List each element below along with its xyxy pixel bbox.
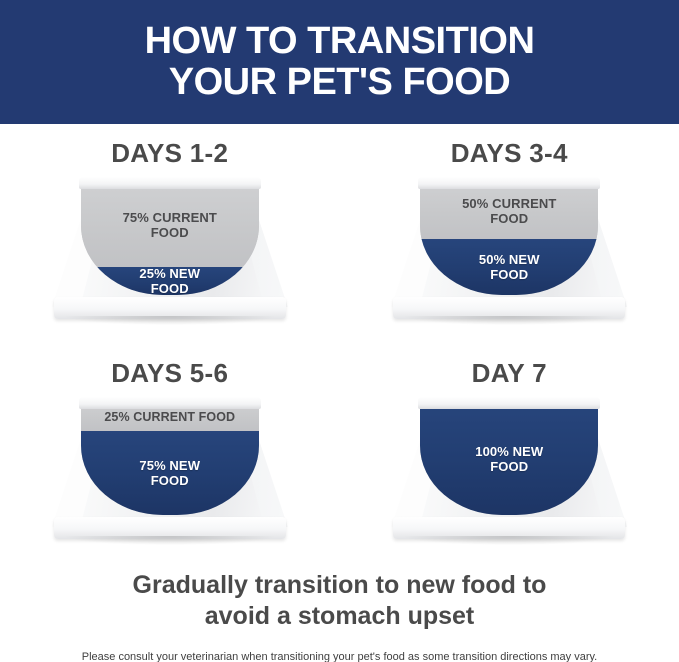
new-food-label: 50% NEW FOOD (473, 252, 546, 283)
transition-steps-grid: DAYS 1-2 75% CURRENT FOOD 25% NEW FOOD D… (0, 124, 679, 564)
food-bowl-graphic: 50% CURRENT FOOD 50% NEW FOOD (391, 175, 627, 325)
bowl-cavity: 25% CURRENT FOOD 75% NEW FOOD (81, 403, 259, 515)
current-food-label: 75% CURRENT FOOD (117, 210, 223, 241)
new-food-label: 25% NEW FOOD (133, 266, 206, 295)
step-card-days-5-6: DAYS 5-6 25% CURRENT FOOD 75% NEW FOOD (0, 344, 340, 564)
step-card-days-3-4: DAYS 3-4 50% CURRENT FOOD 50% NEW FOOD (340, 124, 679, 344)
new-food-layer: 50% NEW FOOD (420, 239, 598, 295)
current-food-layer: 50% CURRENT FOOD (420, 183, 598, 239)
tagline-line-1: Gradually transition to new food to (133, 570, 547, 601)
step-title: DAYS 5-6 (111, 358, 228, 389)
new-food-layer: 100% NEW FOOD (420, 403, 598, 515)
step-card-days-1-2: DAYS 1-2 75% CURRENT FOOD 25% NEW FOOD (0, 124, 340, 344)
current-food-label: 50% CURRENT FOOD (456, 196, 562, 227)
bowl-rim (418, 397, 600, 409)
new-food-label: 75% NEW FOOD (133, 458, 206, 489)
new-food-layer: 25% NEW FOOD (81, 267, 259, 295)
page-title-line-2: YOUR PET'S FOOD (169, 62, 510, 103)
footer: Gradually transition to new food to avoi… (0, 564, 679, 662)
bowl-cavity: 75% CURRENT FOOD 25% NEW FOOD (81, 183, 259, 295)
current-food-layer: 75% CURRENT FOOD (81, 183, 259, 267)
new-food-layer: 75% NEW FOOD (81, 431, 259, 515)
step-title: DAYS 3-4 (451, 138, 568, 169)
bowl-rim (79, 177, 261, 189)
step-title: DAYS 1-2 (111, 138, 228, 169)
bowl-rim (418, 177, 600, 189)
step-title: DAY 7 (472, 358, 547, 389)
step-card-day-7: DAY 7 100% NEW FOOD (340, 344, 679, 564)
bowl-cavity: 50% CURRENT FOOD 50% NEW FOOD (420, 183, 598, 295)
current-food-label: 25% CURRENT FOOD (98, 410, 241, 425)
food-bowl-graphic: 75% CURRENT FOOD 25% NEW FOOD (52, 175, 288, 325)
food-bowl-graphic: 100% NEW FOOD (391, 395, 627, 545)
header-banner: HOW TO TRANSITION YOUR PET'S FOOD (0, 0, 679, 124)
bowl-drop-shadow (405, 536, 613, 545)
bowl-drop-shadow (66, 316, 274, 325)
new-food-label: 100% NEW FOOD (469, 444, 549, 475)
disclaimer-text: Please consult your veterinarian when tr… (82, 651, 598, 662)
food-bowl-graphic: 25% CURRENT FOOD 75% NEW FOOD (52, 395, 288, 545)
page-title-line-1: HOW TO TRANSITION (145, 21, 535, 62)
tagline-line-2: avoid a stomach upset (205, 601, 475, 632)
bowl-rim (79, 397, 261, 409)
bowl-drop-shadow (66, 536, 274, 545)
bowl-drop-shadow (405, 316, 613, 325)
bowl-cavity: 100% NEW FOOD (420, 403, 598, 515)
